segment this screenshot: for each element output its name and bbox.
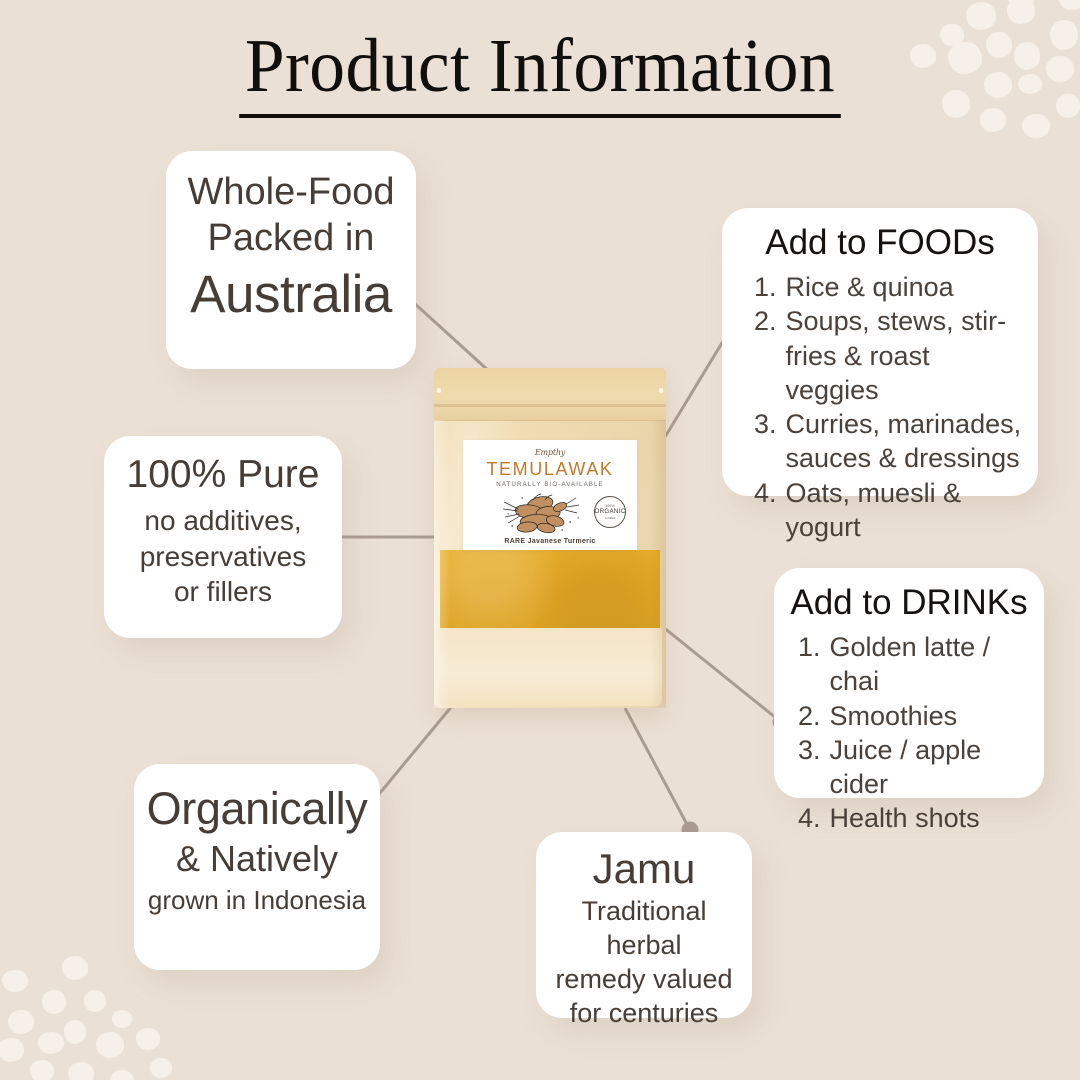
list-item-text: Soups, stews, stir-fries & roast veggies — [786, 304, 1024, 407]
infographic-canvas: Product Information Whole-Food Packed in… — [0, 0, 1080, 1080]
card-whole-food-australia: Whole-Food Packed in Australia — [166, 151, 416, 369]
australia-line-2: Packed in — [178, 215, 404, 261]
product-pouch: Empthy TEMULAWAK NATURALLY BIO-AVAILABLE — [434, 368, 666, 708]
product-label: Empthy TEMULAWAK NATURALLY BIO-AVAILABLE — [463, 440, 637, 550]
card-100-percent-pure: 100% Pure no additives, preservatives or… — [104, 436, 342, 638]
drinks-title: Add to DRINKs — [786, 582, 1032, 624]
pouch-bottom-panel — [438, 628, 662, 706]
jamu-heading: Jamu — [544, 844, 744, 894]
organic-line-3: grown in Indonesia — [144, 884, 370, 918]
list-item-text: Curries, marinades, sauces & dressings — [786, 407, 1024, 476]
jamu-body-line-3: for centuries — [544, 997, 744, 1031]
pure-body-line-1: no additives, — [114, 503, 332, 539]
pouch-top-seal — [434, 368, 666, 421]
foods-list: 1.Rice & quinoa2.Soups, stews, stir-frie… — [736, 270, 1024, 544]
list-item-number: 4. — [754, 476, 777, 510]
pure-heading: 100% Pure — [114, 452, 332, 499]
list-item-number: 2. — [754, 304, 777, 338]
label-artwork: 100% ORGANIC certified — [463, 490, 637, 536]
list-item-text: Oats, muesli & yogurt — [786, 476, 1024, 545]
card-add-to-foods: Add to FOODs 1.Rice & quinoa2.Soups, ste… — [722, 208, 1038, 496]
list-item: 4.Health shots — [798, 801, 1032, 835]
pure-body-line-3: or fillers — [114, 574, 332, 610]
list-item-number: 1. — [798, 630, 821, 664]
seal-bottom-text: certified — [605, 517, 616, 520]
list-item-text: Juice / apple cider — [830, 733, 1032, 802]
jamu-body-line-2: remedy valued — [544, 963, 744, 997]
pouch-tear-notch-right — [659, 388, 663, 393]
organic-line-2: & Natively — [144, 836, 370, 881]
australia-line-1: Whole-Food — [178, 169, 404, 215]
card-organically-grown: Organically & Natively grown in Indonesi… — [134, 764, 380, 970]
foods-title: Add to FOODs — [736, 222, 1024, 264]
card-add-to-drinks: Add to DRINKs 1.Golden latte / chai2.Smo… — [774, 568, 1044, 798]
label-script-brand: Empthy — [463, 449, 637, 457]
page-title-container: Product Information — [0, 28, 1080, 118]
list-item-number: 1. — [754, 270, 777, 304]
label-brand-name: TEMULAWAK — [463, 460, 637, 478]
list-item: 2.Soups, stews, stir-fries & roast veggi… — [754, 304, 1024, 407]
list-item: 2.Smoothies — [798, 699, 1032, 733]
list-item-number: 2. — [798, 699, 821, 733]
page-title: Product Information — [239, 28, 841, 118]
list-item-number: 3. — [754, 407, 777, 441]
turmeric-root-illustration — [500, 490, 586, 534]
list-item: 3.Juice / apple cider — [798, 733, 1032, 802]
jamu-body-line-1: Traditional herbal — [544, 895, 744, 963]
australia-line-3: Australia — [178, 264, 404, 327]
list-item-text: Health shots — [830, 801, 1032, 835]
list-item: 1.Golden latte / chai — [798, 630, 1032, 699]
list-item: 4.Oats, muesli & yogurt — [754, 476, 1024, 545]
label-tagline: NATURALLY BIO-AVAILABLE — [463, 482, 637, 488]
list-item-number: 4. — [798, 801, 821, 835]
list-item-text: Golden latte / chai — [830, 630, 1032, 699]
pouch-tear-notch-left — [437, 388, 441, 393]
pure-body-line-2: preservatives — [114, 539, 332, 575]
list-item: 1.Rice & quinoa — [754, 270, 1024, 304]
pouch-powder-window — [440, 550, 660, 628]
list-item: 3.Curries, marinades, sauces & dressings — [754, 407, 1024, 476]
list-item-number: 3. — [798, 733, 821, 767]
list-item-text: Rice & quinoa — [786, 270, 1024, 304]
organic-line-1: Organically — [144, 782, 370, 836]
label-footer-text: RARE Javanese Turmeric — [463, 538, 637, 545]
seal-main-text: ORGANIC — [595, 509, 626, 515]
card-jamu: Jamu Traditional herbal remedy valued fo… — [536, 832, 752, 1018]
organic-seal-icon: 100% ORGANIC certified — [594, 496, 626, 528]
list-item-text: Smoothies — [830, 699, 1032, 733]
drinks-list: 1.Golden latte / chai2.Smoothies3.Juice … — [786, 630, 1032, 836]
